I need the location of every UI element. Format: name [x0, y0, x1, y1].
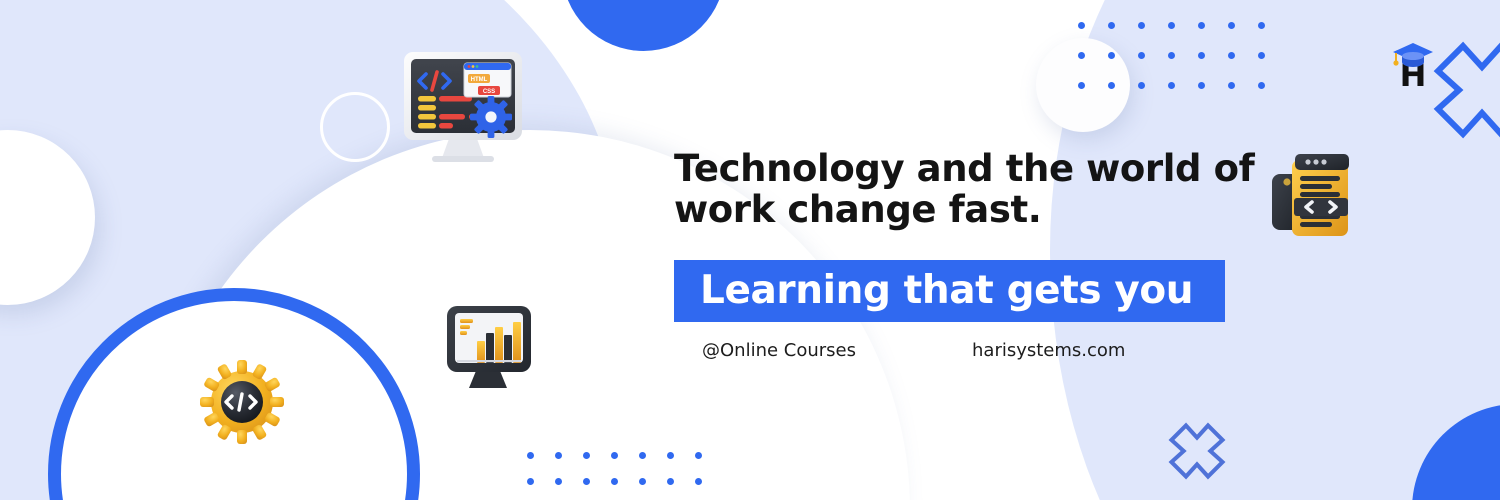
- brand-logo: H: [1389, 38, 1437, 90]
- dot: [1138, 52, 1145, 59]
- dot: [1078, 52, 1085, 59]
- highlight-banner: Learning that gets you: [674, 260, 1225, 322]
- dot: [1138, 82, 1145, 89]
- white-ring-circle: [320, 92, 390, 162]
- headline: Technology and the world of work change …: [674, 148, 1274, 231]
- dot: [583, 452, 590, 459]
- promo-banner: HTML CSS: [0, 0, 1500, 500]
- dot: [527, 478, 534, 485]
- code-window-icon: [1270, 142, 1362, 252]
- dot: [1228, 22, 1235, 29]
- dot: [695, 452, 702, 459]
- dot: [695, 478, 702, 485]
- svg-text:HTML: HTML: [471, 77, 488, 83]
- highlight-text: Learning that gets you: [700, 271, 1193, 310]
- blue-circle-top-center: [562, 0, 725, 51]
- dot-grid-bottom-center: [527, 452, 723, 500]
- dot: [1198, 82, 1205, 89]
- dot: [1108, 52, 1115, 59]
- cross-outline-small-icon: [1168, 422, 1226, 480]
- dot: [1138, 22, 1145, 29]
- banner-text-block: Technology and the world of work change …: [674, 148, 1274, 361]
- dot: [1108, 82, 1115, 89]
- dot: [1078, 82, 1085, 89]
- dot: [1258, 52, 1265, 59]
- dot: [639, 478, 646, 485]
- dot: [667, 478, 674, 485]
- cross-outline-large-icon: [1432, 40, 1500, 140]
- dot: [1258, 82, 1265, 89]
- graduation-cap-icon: H: [1389, 38, 1437, 90]
- dot: [639, 452, 646, 459]
- code-editor-monitor-icon: HTML CSS: [398, 44, 528, 164]
- dot: [667, 452, 674, 459]
- dot: [583, 478, 590, 485]
- dot: [1228, 82, 1235, 89]
- bar-chart-monitor-icon: [444, 302, 534, 394]
- dot-grid-top-right: [1078, 22, 1288, 112]
- course-handle: @Online Courses: [702, 340, 972, 361]
- website-url[interactable]: harisystems.com: [972, 340, 1125, 361]
- dot: [555, 478, 562, 485]
- blue-gear-icon: [470, 96, 512, 138]
- dot: [1108, 22, 1115, 29]
- dot: [555, 452, 562, 459]
- meta-row: @Online Courses harisystems.com: [674, 340, 1274, 361]
- dot: [1258, 22, 1265, 29]
- dot: [1228, 52, 1235, 59]
- dot: [1198, 52, 1205, 59]
- dot: [1168, 22, 1175, 29]
- dot: [1078, 22, 1085, 29]
- dot: [1168, 52, 1175, 59]
- gear-code-icon: [192, 352, 292, 452]
- svg-text:CSS: CSS: [483, 89, 495, 95]
- dot: [1198, 22, 1205, 29]
- dot: [611, 478, 618, 485]
- dot: [1168, 82, 1175, 89]
- dot: [527, 452, 534, 459]
- dot: [611, 452, 618, 459]
